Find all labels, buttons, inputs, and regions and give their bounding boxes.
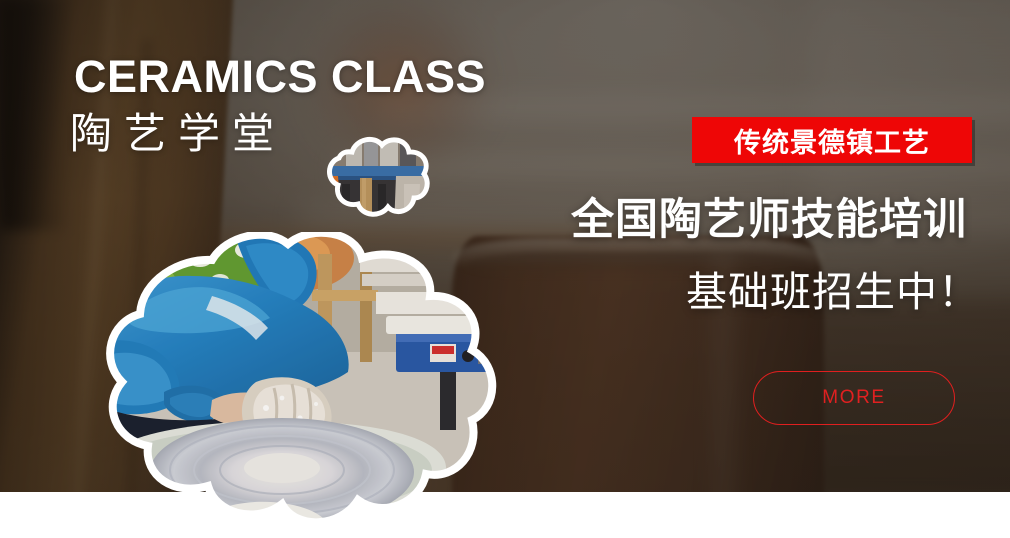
more-button[interactable]: MORE [753,371,955,425]
more-button-label: MORE [822,387,885,409]
page-title-chinese: 陶艺学堂 [70,108,286,159]
page-title-english: CERAMICS CLASS [74,54,486,99]
headline-primary: 全国陶艺师技能培训 [571,199,967,242]
ceramics-class-banner: CERAMICS CLASS 陶艺学堂 [0,0,1010,538]
headline-secondary: 基础班招生中！ [686,272,980,313]
pottery-shelf-photo [312,132,436,228]
status-badge: 传统景德镇工艺 [692,117,972,163]
child-at-pottery-wheel-photo [60,232,538,538]
status-badge-label: 传统景德镇工艺 [692,117,972,163]
